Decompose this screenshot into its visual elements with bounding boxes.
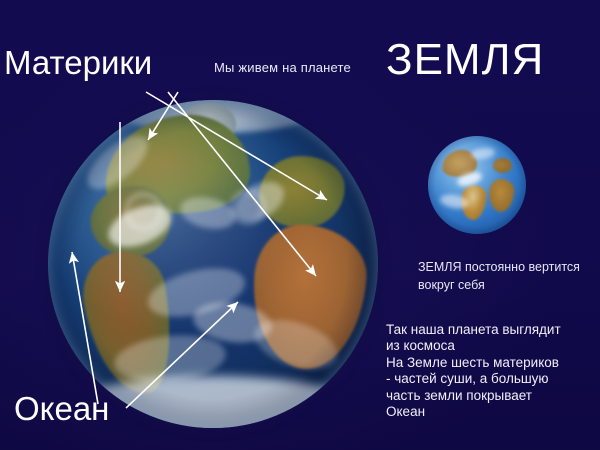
- paragraph-line: На Земле шесть материков: [386, 355, 598, 371]
- paragraph-line: Так наша планета выглядит: [386, 322, 598, 338]
- label-ocean: Океан: [14, 392, 109, 427]
- earth-globe-large: [48, 100, 378, 428]
- page-title: ЗЕМЛЯ: [386, 38, 544, 82]
- subtitle-we-live-on-planet: Мы живем на планете: [214, 60, 351, 75]
- paragraph-line: Океан: [386, 404, 598, 420]
- paragraph-line: из космоса: [386, 338, 598, 354]
- earth-globe-small: [428, 136, 526, 234]
- slide-canvas: Материки Океан Мы живем на планете ЗЕМЛЯ…: [0, 0, 600, 450]
- paragraph-line: часть земли покрывает: [386, 388, 598, 404]
- paragraph-from-space: Так наша планета выглядит из космоса На …: [386, 322, 598, 421]
- globe-atmosphere-rim: [48, 100, 378, 428]
- label-continents: Материки: [4, 46, 152, 81]
- caption-rotation: ЗЕМЛЯ постоянно вертится вокруг себя: [418, 258, 588, 294]
- paragraph-line: - частей суши, а большую: [386, 371, 598, 387]
- small-globe-shading: [428, 136, 526, 234]
